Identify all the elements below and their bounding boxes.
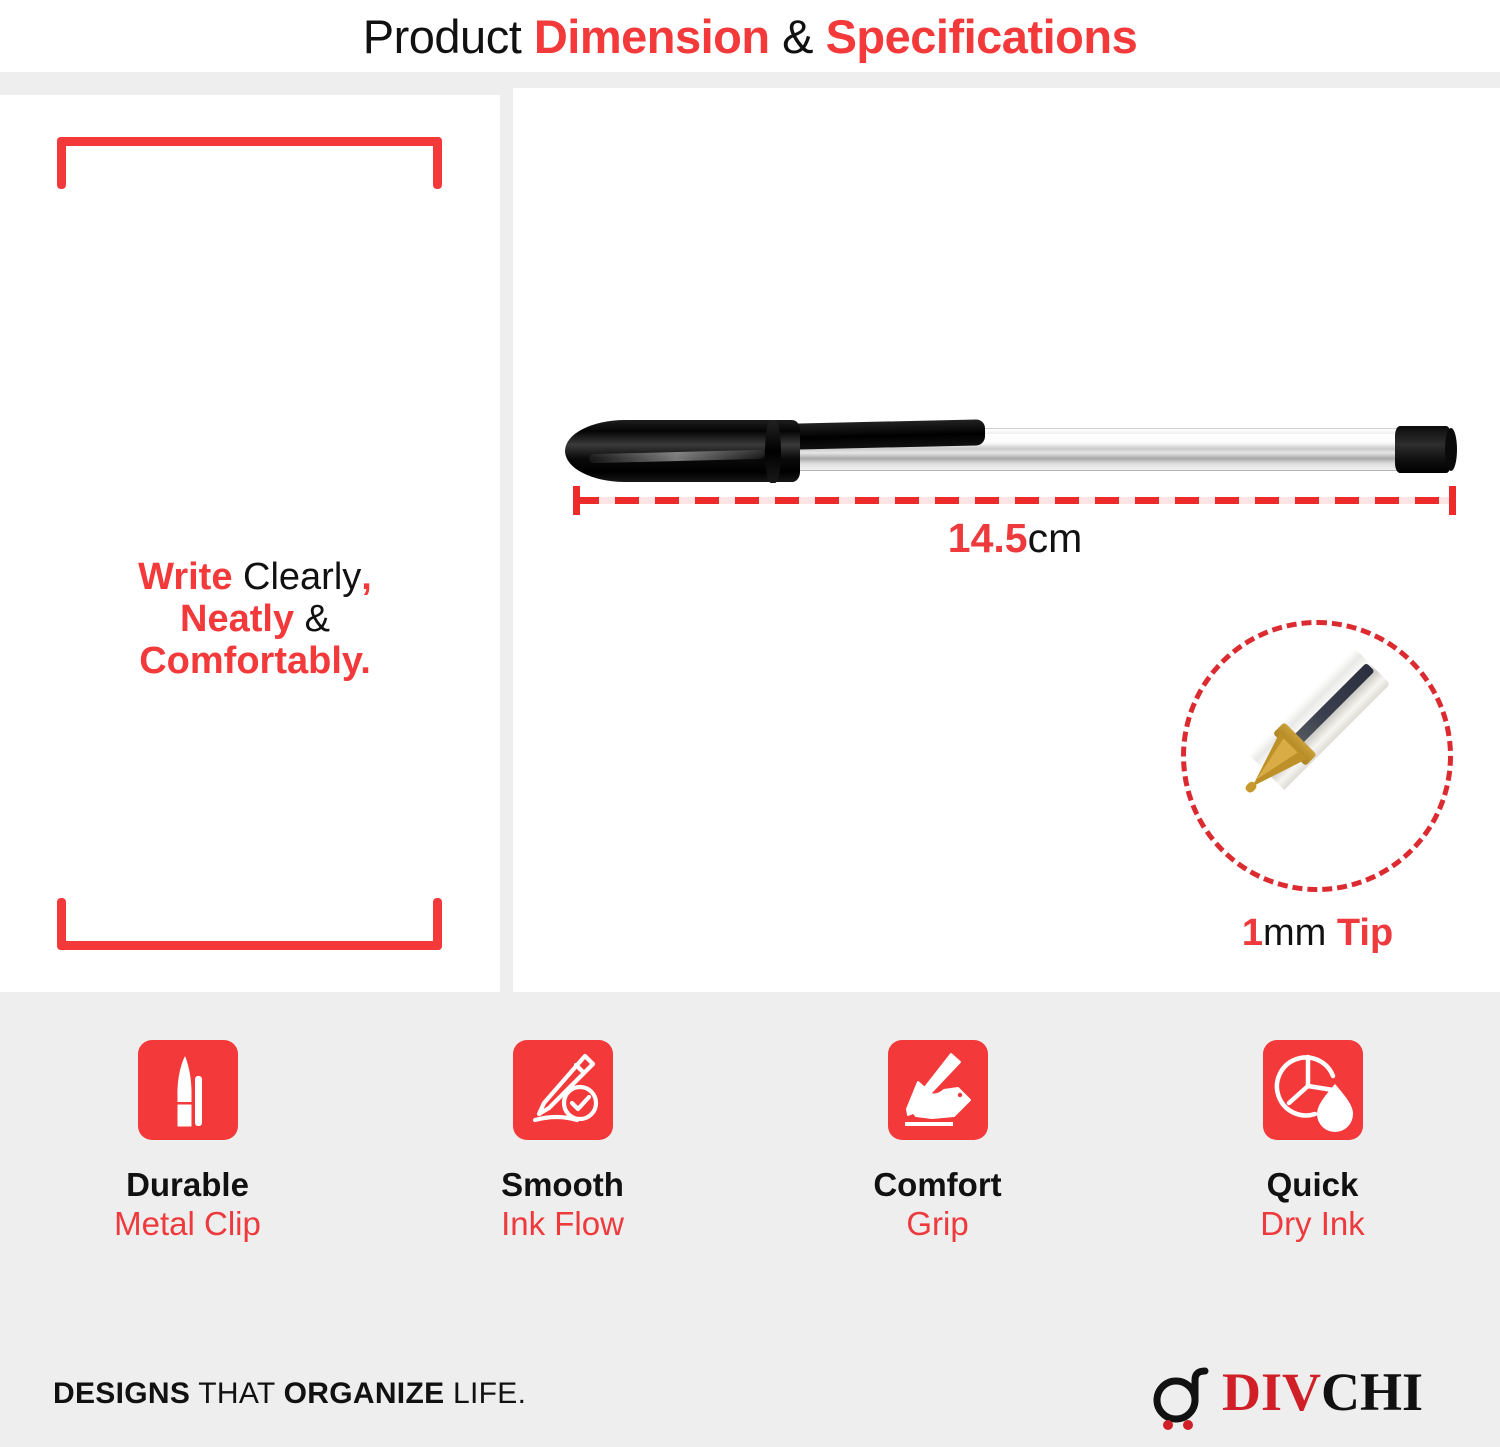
dimension-label: 14.5cm [565, 516, 1465, 561]
feature-comfort-grip: Comfort Grip [750, 1040, 1125, 1300]
footer-tagline-life: LIFE. [444, 1377, 526, 1410]
feature-durable-metal-clip: Durable Metal Clip [0, 1040, 375, 1300]
dimension-endcap-right [1449, 486, 1456, 515]
page-title-part-dimension: Dimension [534, 10, 770, 63]
tagline-ampersand: & [294, 598, 330, 640]
tagline-neatly: Neatly [180, 598, 294, 640]
feature-subtitle: Ink Flow [501, 1205, 624, 1244]
pen-cap-rim [765, 420, 781, 483]
decorative-bracket-top [57, 137, 442, 192]
page-header: Product Dimension & Specifications [0, 0, 1500, 72]
pen-check-icon [513, 1040, 613, 1140]
page-title-part-amp: & [770, 10, 826, 63]
brand-name-div: DIV [1222, 1362, 1321, 1422]
footer-tagline-that: THAT [190, 1377, 284, 1410]
dimension-value: 14.5 [948, 515, 1028, 561]
dimension-endcap-left [573, 486, 580, 515]
feature-subtitle: Metal Clip [114, 1205, 261, 1244]
dimension-line [565, 486, 1465, 516]
tip-value: 1 [1242, 912, 1263, 954]
footer-tagline-designs: DESIGNS [53, 1377, 190, 1410]
brand-logo: DIVCHI [1150, 1358, 1450, 1438]
feature-title: Smooth [501, 1166, 624, 1205]
shopping-cart-icon [1150, 1364, 1220, 1430]
tagline-write: Write [138, 556, 232, 598]
tagline-clearly: Clearly [232, 556, 361, 598]
feature-subtitle: Dry Ink [1260, 1205, 1365, 1244]
tagline-comma: , [361, 556, 372, 598]
brand-name-chi: CHI [1321, 1362, 1423, 1422]
footer-tagline: DESIGNS THAT ORGANIZE LIFE. [53, 1377, 526, 1411]
decorative-bracket-bottom [57, 895, 442, 950]
tagline-text: Write Clearly, Neatly & Comfortably. [60, 557, 450, 682]
feature-title: Quick [1267, 1166, 1359, 1205]
pen-cap-gloss [589, 450, 764, 464]
feature-quick-dry-ink: Quick Dry Ink [1125, 1040, 1500, 1300]
tagline-panel: Write Clearly, Neatly & Comfortably. [0, 95, 500, 992]
footer-tagline-organize: ORGANIZE [284, 1377, 445, 1410]
feature-smooth-ink-flow: Smooth Ink Flow [375, 1040, 750, 1300]
dimension-unit: cm [1028, 515, 1083, 561]
feature-title: Comfort [873, 1166, 1001, 1205]
features-row: Durable Metal Clip Smooth Ink Flow [0, 1040, 1500, 1300]
tip-callout-label: 1mm Tip [1140, 912, 1495, 955]
page-title: Product Dimension & Specifications [363, 13, 1137, 60]
tagline-line-1: Write Clearly, [60, 557, 450, 599]
tagline-line-3: Comfortably. [60, 641, 450, 683]
pen-end-plug [1395, 426, 1451, 473]
page-title-part-product: Product [363, 10, 534, 63]
page-title-part-specifications: Specifications [826, 10, 1138, 63]
pen-illustration [565, 398, 1465, 498]
hand-writing-icon [888, 1040, 988, 1140]
tip-word: Tip [1337, 912, 1393, 954]
tip-unit: mm [1263, 912, 1326, 954]
tagline-comfortably: Comfortably. [139, 640, 371, 682]
dimension-dashed-line [575, 497, 1455, 504]
feature-title: Durable [126, 1166, 249, 1205]
pen-clip-icon [138, 1040, 238, 1140]
feature-subtitle: Grip [906, 1205, 968, 1244]
brand-name: DIVCHI [1222, 1364, 1423, 1421]
tagline-line-2: Neatly & [60, 599, 450, 641]
clock-droplet-icon [1263, 1040, 1363, 1140]
